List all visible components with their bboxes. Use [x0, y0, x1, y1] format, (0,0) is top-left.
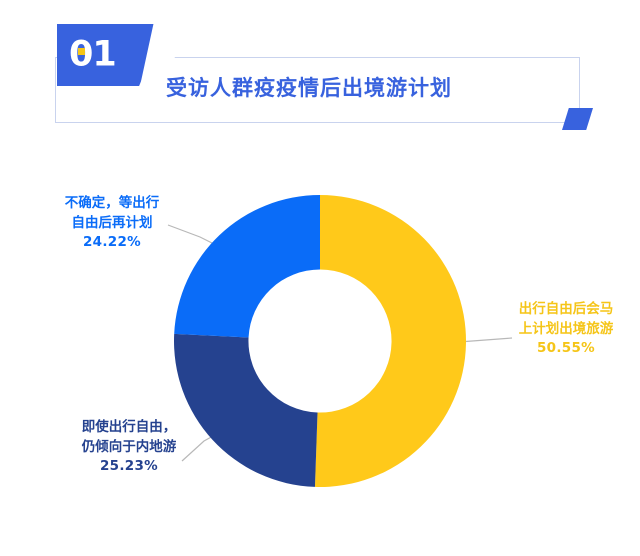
slice-value-outbound: 50.55%: [496, 339, 636, 359]
slice-label-uncertain: 不确定，等出行 自由后再计划 24.22%: [38, 194, 186, 253]
donut-chart-area: 不确定，等出行 自由后再计划 24.22% 即使出行自由， 仍倾向于内地游 25…: [0, 150, 640, 556]
slice-label-outbound: 出行自由后会马 上计划出境旅游 50.55%: [496, 300, 636, 359]
donut-svg: [174, 195, 466, 487]
donut-slice[interactable]: [174, 195, 320, 337]
donut-slice[interactable]: [315, 195, 466, 487]
slice-label-outbound-line1: 出行自由后会马: [519, 301, 614, 317]
page-title: 受访人群疫疫情后出境游计划: [166, 72, 452, 102]
slice-value-domestic: 25.23%: [46, 457, 212, 477]
section-header: 01 受访人群疫疫情后出境游计划: [0, 0, 640, 150]
slice-label-domestic: 即使出行自由， 仍倾向于内地游 25.23%: [46, 418, 212, 477]
slice-value-uncertain: 24.22%: [38, 233, 186, 253]
slice-label-outbound-line2: 上计划出境旅游: [519, 321, 614, 337]
badge-dot-icon: [78, 48, 85, 55]
slice-label-domestic-line2: 仍倾向于内地游: [82, 439, 177, 455]
slice-label-uncertain-line2: 自由后再计划: [72, 215, 153, 231]
donut-chart: [174, 195, 466, 487]
section-number-text: 01: [69, 38, 116, 73]
slice-label-uncertain-line1: 不确定，等出行: [65, 195, 160, 211]
slice-label-domestic-line1: 即使出行自由，: [82, 419, 177, 435]
